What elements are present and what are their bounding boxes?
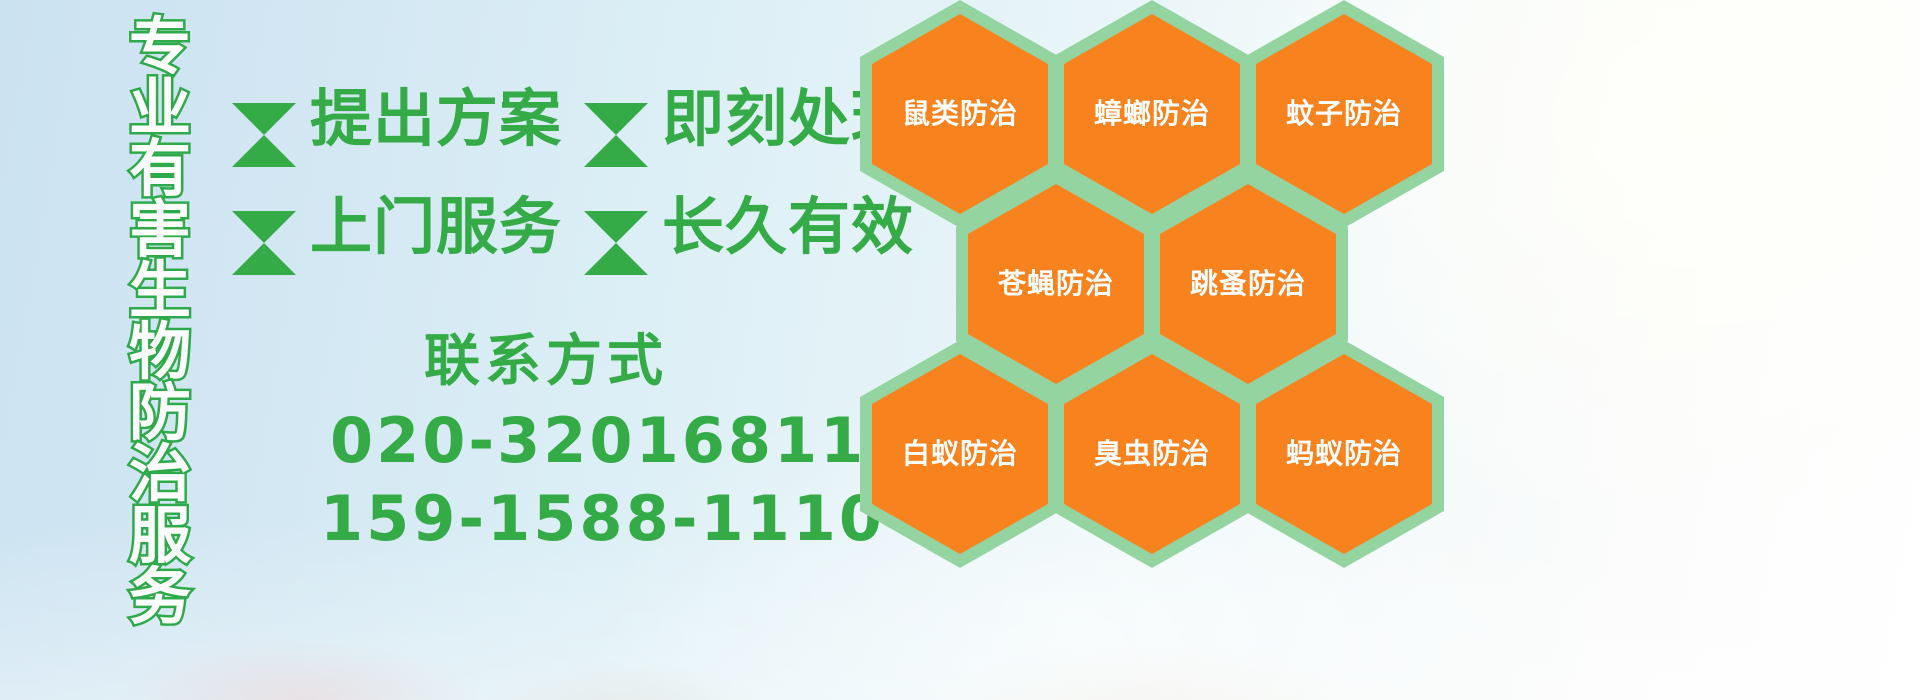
headline-char: 务 [108, 566, 212, 627]
headline-char: 服 [108, 505, 212, 566]
service-honeycomb: 鼠类防治 蟑螂防治 蚊子防治 苍蝇防治 跳蚤防治 白蚁防治 [860, 0, 1480, 568]
diamond-icon [232, 211, 296, 243]
hex-inner: 臭虫防治 [1064, 354, 1240, 554]
headline-char: 物 [108, 321, 212, 382]
diamond-icon [232, 103, 296, 135]
hex-inner: 白蚁防治 [872, 354, 1048, 554]
headline-char: 防 [108, 382, 212, 443]
hex-inner: 苍蝇防治 [968, 184, 1144, 384]
headline-char: 有 [108, 138, 212, 199]
hex-inner: 跳蚤防治 [1160, 184, 1336, 384]
feature-label: 上门服务 [310, 196, 562, 258]
hex-label: 白蚁防治 [902, 438, 1018, 470]
hex-label: 苍蝇防治 [998, 268, 1114, 300]
headline-char: 治 [108, 443, 212, 504]
hex-label: 跳蚤防治 [1190, 268, 1306, 300]
hex-label: 蚂蚁防治 [1286, 438, 1402, 470]
headline-char: 专 [108, 16, 212, 77]
feature-row-1: 提出方案 即刻处理 [232, 88, 936, 150]
headline-char: 业 [108, 77, 212, 138]
pest-control-banner: 专 业 有 害 生 物 防 治 服 务 提出方案 即刻处理 上门服务 长久有效 … [0, 0, 1920, 700]
feature-label: 提出方案 [310, 88, 562, 150]
hex-inner: 蚂蚁防治 [1256, 354, 1432, 554]
diamond-icon [584, 211, 648, 243]
headline-char: 害 [108, 199, 212, 260]
hex-inner: 鼠类防治 [872, 14, 1048, 214]
hex-label: 鼠类防治 [902, 98, 1018, 130]
hex-inner: 蚊子防治 [1256, 14, 1432, 214]
vertical-headline: 专 业 有 害 生 物 防 治 服 务 [108, 16, 212, 627]
headline-char: 生 [108, 260, 212, 321]
hex-label: 蚊子防治 [1286, 98, 1402, 130]
hex-label: 臭虫防治 [1094, 438, 1210, 470]
diamond-icon [584, 103, 648, 135]
hex-label: 蟑螂防治 [1094, 98, 1210, 130]
phone-number-landline[interactable]: 020-32016811 [330, 404, 866, 477]
feature-row-2: 上门服务 长久有效 [232, 196, 936, 258]
contact-heading: 联系方式 [424, 316, 668, 397]
hex-inner: 蟑螂防治 [1064, 14, 1240, 214]
phone-number-mobile[interactable]: 159-1588-1110 [320, 482, 885, 555]
